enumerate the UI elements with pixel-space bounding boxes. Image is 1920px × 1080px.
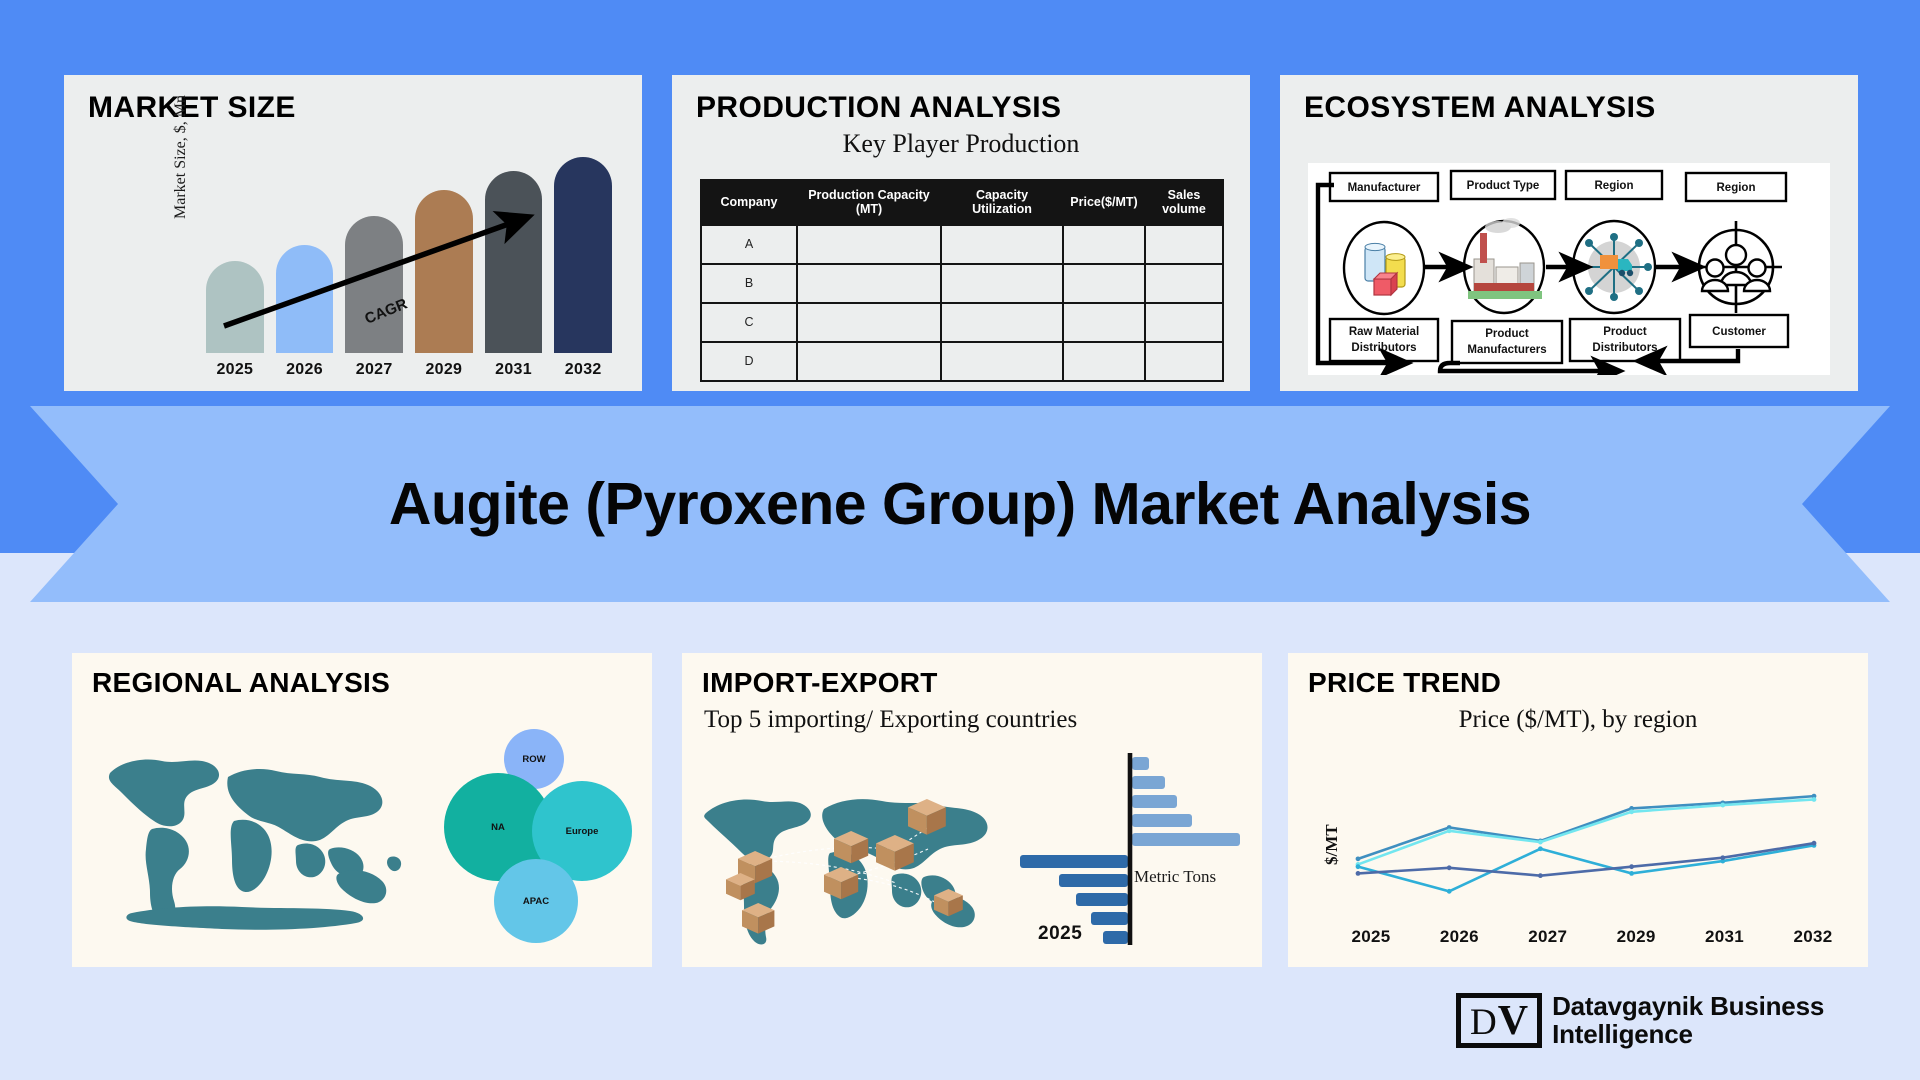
price-line-region-4	[1358, 843, 1814, 875]
logo-letter-v: V	[1498, 1000, 1528, 1042]
tornado-bar-import	[1132, 795, 1177, 808]
table-cell-company: C	[701, 303, 797, 342]
x-tick-label: 2025	[206, 361, 264, 379]
price-trend-card: PRICE TREND Price ($/MT), by region $/MT…	[1288, 653, 1868, 967]
price-trend-x-axis-labels: 202520262027202920312032	[1336, 927, 1848, 947]
table-cell-price	[1063, 225, 1145, 264]
x-tick-label: 2025	[1336, 927, 1406, 947]
tornado-bar-import	[1132, 776, 1165, 789]
distribution-network-icon	[1573, 221, 1655, 313]
table-cell-sales	[1145, 303, 1223, 342]
market-size-bars	[206, 157, 612, 353]
svg-text:Raw Material: Raw Material	[1349, 326, 1419, 338]
x-tick-label: 2032	[554, 361, 612, 379]
tornado-bar-export	[1091, 912, 1128, 925]
bubble-label: APAC	[523, 896, 549, 907]
import-export-title: IMPORT-EXPORT	[702, 667, 938, 699]
svg-text:Region: Region	[1595, 180, 1634, 192]
import-export-subtitle: Top 5 importing/ Exporting countries	[704, 705, 1244, 735]
price-point	[1629, 871, 1634, 876]
table-cell-sales	[1145, 225, 1223, 264]
logo-line-2: Intelligence	[1552, 1020, 1824, 1048]
bar-column	[554, 157, 612, 353]
svg-text:Product Type: Product Type	[1467, 180, 1540, 192]
price-point	[1447, 865, 1452, 870]
import-export-year-label: 2025	[1038, 923, 1082, 945]
table-cell-company: B	[701, 264, 797, 303]
x-tick-label: 2032	[1778, 927, 1848, 947]
region-share-bubbles: ROW NA Europe APAC	[442, 715, 632, 955]
table-cell-capacity	[797, 264, 941, 303]
table-cell-utilization	[941, 342, 1063, 381]
market-size-bar	[554, 157, 612, 353]
bar-column	[415, 157, 473, 353]
market-size-card: MARKET SIZE Market Size, $, Mn 202520262…	[64, 75, 642, 391]
company-logo: D V Datavgaynik Business Intelligence	[1456, 992, 1824, 1048]
regional-analysis-card: REGIONAL ANALYSIS ROW NA Europe APAC	[72, 653, 652, 967]
price-point	[1538, 873, 1543, 878]
market-size-bar	[206, 261, 264, 353]
bubble-label: Europe	[566, 826, 599, 837]
bubble-label: NA	[491, 822, 505, 833]
svg-text:Manufacturer: Manufacturer	[1348, 182, 1421, 194]
price-point	[1356, 871, 1361, 876]
svg-text:Product: Product	[1603, 326, 1647, 338]
svg-text:Manufacturers: Manufacturers	[1467, 344, 1546, 356]
ecosystem-flow-svg: Manufacturer Product Type Region Region	[1308, 163, 1830, 375]
price-point	[1356, 856, 1361, 861]
table-cell-capacity	[797, 303, 941, 342]
price-point	[1720, 803, 1725, 808]
table-cell-sales	[1145, 264, 1223, 303]
bubble-label: ROW	[522, 754, 545, 765]
tornado-bar-import	[1132, 814, 1192, 827]
column-header-price: Price($/MT)	[1063, 180, 1145, 225]
x-tick-label: 2029	[1601, 927, 1671, 947]
x-tick-label: 2027	[1513, 927, 1583, 947]
tornado-bar-export	[1020, 855, 1128, 868]
price-point	[1812, 797, 1817, 802]
column-header-company: Company	[701, 180, 797, 225]
price-point	[1538, 840, 1543, 845]
table-cell-utilization	[941, 303, 1063, 342]
production-analysis-title: PRODUCTION ANALYSIS	[696, 91, 1061, 125]
price-point	[1447, 889, 1452, 894]
key-player-production-table: Company Production Capacity (MT) Capacit…	[700, 179, 1224, 382]
tornado-bar-export	[1059, 874, 1128, 887]
svg-text:Product: Product	[1485, 328, 1529, 340]
market-size-y-axis-label: Market Size, $, Mn	[172, 95, 190, 219]
bar-column	[485, 157, 543, 353]
x-tick-label: 2029	[415, 361, 473, 379]
bar-column	[206, 157, 264, 353]
x-tick-label: 2031	[485, 361, 543, 379]
import-export-card: IMPORT-EXPORT Top 5 importing/ Exporting…	[682, 653, 1262, 967]
price-point	[1447, 828, 1452, 833]
market-size-chart: Market Size, $, Mn 202520262027202920312…	[64, 131, 642, 389]
eco-top-boxes: Manufacturer Product Type Region Region	[1330, 171, 1786, 201]
price-point	[1720, 855, 1725, 860]
table-cell-sales	[1145, 342, 1223, 381]
market-size-x-axis-labels: 202520262027202920312032	[206, 361, 612, 379]
price-point	[1812, 841, 1817, 846]
table-row: C	[701, 303, 1223, 342]
price-point	[1629, 864, 1634, 869]
table-header-row: Company Production Capacity (MT) Capacit…	[701, 180, 1223, 225]
table-row: B	[701, 264, 1223, 303]
svg-text:Region: Region	[1717, 182, 1756, 194]
market-size-title: MARKET SIZE	[88, 91, 296, 125]
market-size-bar	[415, 190, 473, 353]
tornado-bar-export	[1076, 893, 1128, 906]
world-map-icon	[92, 717, 422, 953]
price-trend-lines	[1336, 781, 1848, 921]
tornado-bar-export	[1103, 931, 1128, 944]
table-cell-price	[1063, 264, 1145, 303]
table-cell-utilization	[941, 225, 1063, 264]
tornado-bar-import	[1132, 833, 1240, 846]
price-trend-title: PRICE TREND	[1308, 667, 1501, 699]
logo-letter-d: D	[1470, 1004, 1497, 1041]
bar-column	[276, 157, 334, 353]
tornado-bar-import	[1132, 757, 1149, 770]
column-header-capacity: Production Capacity (MT)	[797, 180, 941, 225]
production-analysis-subtitle: Key Player Production	[672, 129, 1250, 159]
table-cell-capacity	[797, 342, 941, 381]
price-point	[1538, 846, 1543, 851]
market-size-bar	[345, 216, 403, 353]
trade-flow-map-icon	[696, 757, 1016, 947]
price-point	[1629, 809, 1634, 814]
logo-line-1: Datavgaynik Business	[1552, 992, 1824, 1020]
ecosystem-analysis-title: ECOSYSTEM ANALYSIS	[1304, 91, 1656, 125]
table-row: D	[701, 342, 1223, 381]
title-ribbon: Augite (Pyroxene Group) Market Analysis	[30, 406, 1890, 602]
factory-icon	[1464, 218, 1544, 313]
svg-text:Distributors: Distributors	[1592, 342, 1657, 354]
x-tick-label: 2026	[276, 361, 334, 379]
eco-bottom-boxes: Raw Material Distributors Product Manufa…	[1330, 315, 1788, 363]
x-tick-label: 2031	[1690, 927, 1760, 947]
svg-text:Distributors: Distributors	[1351, 342, 1416, 354]
table-cell-company: D	[701, 342, 797, 381]
barrels-icon	[1344, 222, 1424, 314]
page-title: Augite (Pyroxene Group) Market Analysis	[30, 406, 1890, 602]
market-size-bar	[276, 245, 334, 353]
x-tick-label: 2027	[345, 361, 403, 379]
x-tick-label: 2026	[1424, 927, 1494, 947]
table-row: A	[701, 225, 1223, 264]
table-cell-company: A	[701, 225, 797, 264]
price-point	[1356, 864, 1361, 869]
svg-text:Customer: Customer	[1712, 326, 1766, 338]
table-cell-capacity	[797, 225, 941, 264]
logo-mark-dv: D V	[1456, 993, 1542, 1048]
table-cell-price	[1063, 303, 1145, 342]
table-cell-utilization	[941, 264, 1063, 303]
infographic-page: MARKET SIZE Market Size, $, Mn 202520262…	[0, 0, 1920, 1080]
ecosystem-diagram: Manufacturer Product Type Region Region	[1308, 163, 1830, 375]
market-size-bar	[485, 171, 543, 353]
ecosystem-analysis-card: ECOSYSTEM ANALYSIS Manufacturer Product …	[1280, 75, 1858, 391]
customer-group-icon	[1690, 221, 1782, 313]
price-trend-subtitle: Price ($/MT), by region	[1288, 705, 1868, 735]
regional-analysis-title: REGIONAL ANALYSIS	[92, 667, 390, 699]
column-header-sales: Sales volume	[1145, 180, 1223, 225]
column-header-utilization: Capacity Utilization	[941, 180, 1063, 225]
production-analysis-card: PRODUCTION ANALYSIS Key Player Productio…	[672, 75, 1250, 391]
metric-tons-label: Metric Tons	[1134, 867, 1216, 887]
logo-wordmark: Datavgaynik Business Intelligence	[1552, 992, 1824, 1048]
table-cell-price	[1063, 342, 1145, 381]
